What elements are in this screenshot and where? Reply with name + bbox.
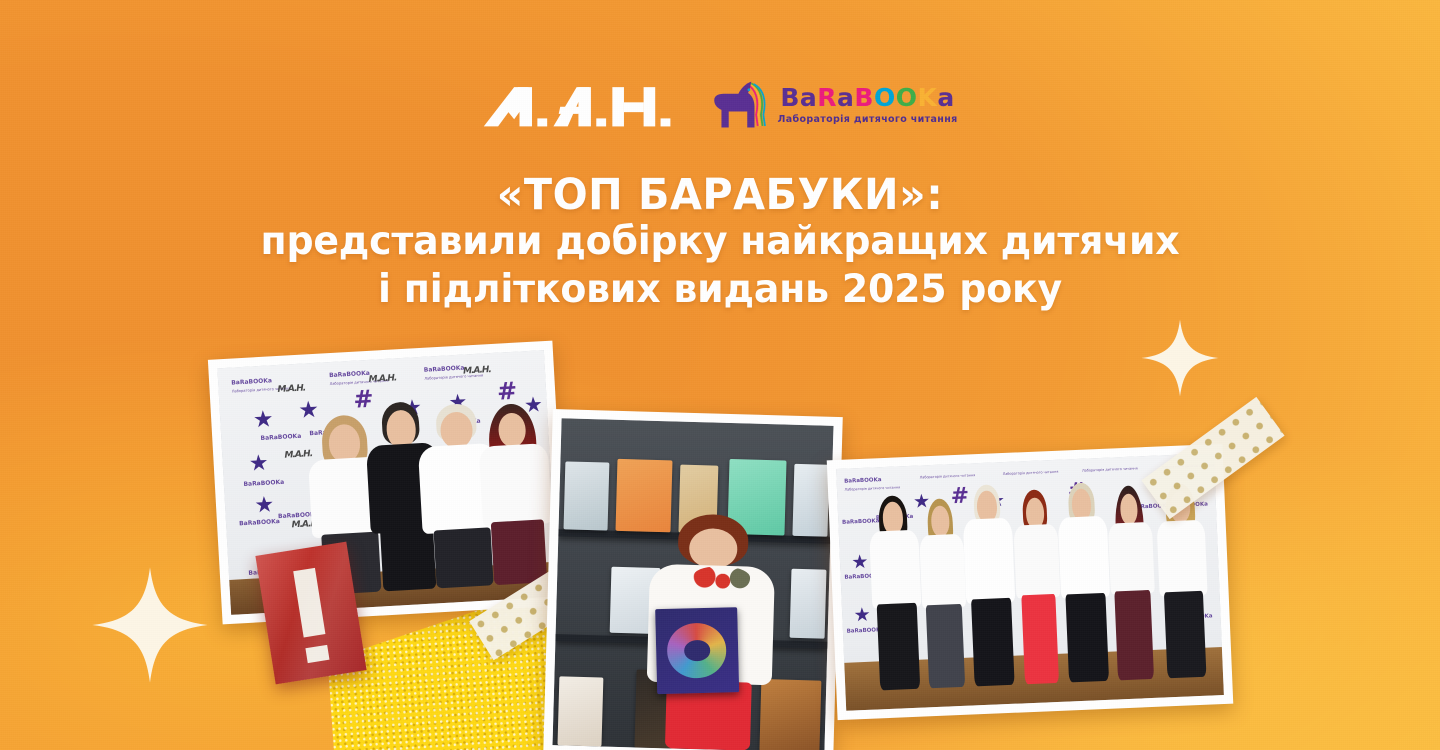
barabooka-wordmark: BaRaBOOKa	[780, 85, 954, 110]
headline-line-2: представили добірку найкращих дитячих	[22, 218, 1419, 266]
bb-letter-1: a	[800, 85, 817, 110]
held-book	[655, 608, 739, 695]
book-cover	[558, 677, 603, 747]
presswall-star: ★	[254, 494, 275, 517]
sparkle-bottom-left	[90, 565, 210, 685]
presswall-star: ★	[853, 606, 871, 626]
person	[1011, 489, 1064, 684]
bb-letter-5: O	[874, 85, 896, 110]
barabooka-tagline: Лабораторія дитячого читання	[777, 115, 957, 125]
book-cover	[564, 461, 609, 531]
headline-line-1: «ТОП БАРАБУКИ»:	[29, 172, 1411, 218]
presswall-star: ★	[248, 452, 269, 475]
sparkle-top-right	[1140, 318, 1220, 398]
barabooka-wordmark-block: BaRaBOOKa Лабораторія дитячого читання	[777, 85, 957, 125]
headline: «ТОП БАРАБУКИ»: представили добірку найк…	[0, 172, 1440, 314]
bb-letter-0: B	[780, 85, 800, 110]
bb-letter-7: K	[917, 85, 937, 110]
barabooka-logo: BaRaBOOKa Лабораторія дитячого читання	[711, 79, 957, 131]
photo-woman-with-book[interactable]	[543, 409, 843, 750]
presswall-star: ★	[851, 552, 869, 572]
person	[962, 484, 1019, 687]
person	[917, 498, 970, 688]
bb-letter-6: O	[896, 85, 918, 110]
photo-woman-with-book-image	[552, 418, 833, 750]
person	[475, 402, 557, 586]
person	[868, 495, 925, 690]
presswall-hash: #	[496, 379, 517, 404]
bb-letter-2: R	[817, 85, 837, 110]
person	[1056, 482, 1113, 682]
book-cover	[792, 464, 829, 537]
promo-banner: BaRaBOOKa Лабораторія дитячого читання «…	[0, 0, 1440, 750]
logo-row: BaRaBOOKa Лабораторія дитячого читання	[0, 74, 1440, 136]
necklace	[693, 566, 751, 594]
person	[1105, 485, 1158, 680]
person	[1155, 483, 1212, 678]
bb-letter-3: a	[837, 85, 854, 110]
dog-icon	[711, 79, 769, 131]
bb-letter-8: a	[937, 85, 954, 110]
man-logo	[482, 80, 673, 130]
bb-letter-4: B	[854, 85, 874, 110]
book-cover	[789, 569, 826, 639]
headline-line-3: і підліткових видань 2025 року	[22, 266, 1419, 314]
presswall-star: ★	[252, 407, 274, 431]
